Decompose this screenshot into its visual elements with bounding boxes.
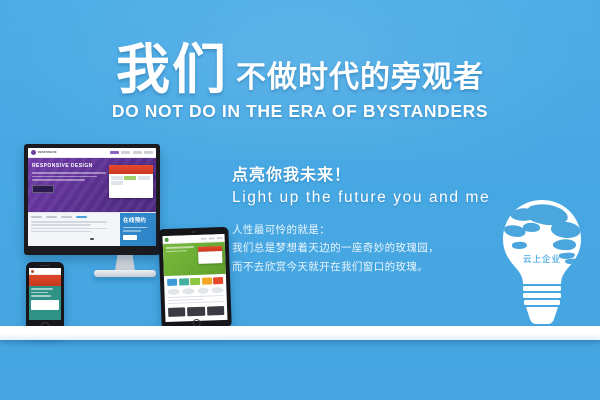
thumb-header xyxy=(109,165,153,174)
feature-icon xyxy=(167,289,179,295)
subhead-en: Light up the future you and me xyxy=(232,189,512,208)
body-paragraph: 人性最可怜的就是： 我们总是梦想着天边的一座奇妙的玫瑰园， 而不去欣赏今天就开在… xyxy=(232,221,512,276)
tablet-logo-icon xyxy=(165,237,169,241)
hero-screenshot-thumb xyxy=(109,165,153,198)
monitor-hero-banner: RESPONSIVE DESIGN xyxy=(28,158,156,212)
body-line-2: 我们总是梦想着天边的一座奇妙的玫瑰园， xyxy=(232,239,512,257)
phone-card xyxy=(31,300,59,310)
body-line-3: 而不去欣赏今天就开在我们窗口的玫瑰。 xyxy=(232,258,512,276)
content-tab[interactable] xyxy=(61,216,72,218)
tablet-hero-card xyxy=(198,246,223,264)
monitor-screen: RESPONSIVE RESPONSIVE DESIGN xyxy=(28,148,156,246)
phone-logo-icon xyxy=(31,270,34,273)
hero-cta-button[interactable] xyxy=(32,185,54,193)
tablet-nav-item[interactable] xyxy=(217,237,223,239)
feature-icon xyxy=(212,287,224,293)
desktop-monitor-mockup: RESPONSIVE RESPONSIVE DESIGN xyxy=(24,144,160,255)
tablet-thumb xyxy=(168,307,186,317)
headline-secondary-cn: 不做时代的旁观者 xyxy=(236,63,484,97)
thumb-block xyxy=(124,176,136,180)
nav-item[interactable] xyxy=(110,151,119,154)
monitor-led xyxy=(90,238,94,240)
tablet-hero-banner xyxy=(163,242,226,276)
hero-text-line xyxy=(32,179,85,181)
phone-screen xyxy=(29,268,61,320)
content-text-line xyxy=(31,221,107,223)
tablet-thumb xyxy=(187,307,205,317)
tablet-card-header xyxy=(198,246,222,252)
hero-text-line xyxy=(32,172,106,174)
tablet-nav-item[interactable] xyxy=(201,237,207,239)
content-tab[interactable] xyxy=(31,216,42,218)
white-shelf xyxy=(0,326,600,340)
shelf-shadow xyxy=(0,340,600,344)
phone-speaker xyxy=(40,265,50,266)
banner-stage: 我们 不做时代的旁观者 DO NOT DO IN THE ERA OF BYST… xyxy=(0,0,600,400)
content-tabs xyxy=(31,216,117,218)
thumb-block xyxy=(111,181,123,185)
hero-text-line xyxy=(32,176,97,178)
thumb-body xyxy=(109,174,153,187)
monitor-base xyxy=(94,270,156,277)
phone-banner xyxy=(29,275,61,286)
tablet-hero-line xyxy=(166,250,187,252)
content-tab[interactable] xyxy=(76,216,87,218)
tablet-text-block xyxy=(165,295,227,305)
site-brand-label: RESPONSIVE xyxy=(38,151,57,154)
phone-text-line xyxy=(31,295,51,297)
nav-item[interactable] xyxy=(121,151,130,154)
phone-site-header xyxy=(29,268,61,275)
tablet-camera xyxy=(192,230,195,233)
tablet-thumb xyxy=(207,306,225,316)
tablet-nav xyxy=(201,237,223,240)
swatch xyxy=(213,277,223,284)
body-line-1: 人性最可怜的就是： xyxy=(232,221,512,239)
thumb-block xyxy=(138,176,150,180)
tablet-nav-item[interactable] xyxy=(209,237,215,239)
content-tab[interactable] xyxy=(46,216,57,218)
swatch xyxy=(179,278,189,285)
tablet-screen xyxy=(163,234,228,322)
bulb-watermark: 云上企业 xyxy=(494,253,590,265)
nav-item[interactable] xyxy=(144,151,153,154)
tablet-mockup xyxy=(158,227,231,329)
tablet-hero-line xyxy=(166,246,194,248)
copy-block: 点亮你我未来！ Light up the future you and me 人… xyxy=(232,166,512,276)
smartphone-mockup xyxy=(26,262,64,334)
thumb-block xyxy=(111,176,123,180)
phone-text-line xyxy=(31,288,53,290)
tablet-thumb-row xyxy=(165,304,227,319)
site-logo-icon xyxy=(31,150,36,155)
phone-text-line xyxy=(31,292,48,294)
feature-icon xyxy=(197,288,209,294)
monitor-site-header: RESPONSIVE xyxy=(28,148,156,158)
content-text-line xyxy=(31,224,91,226)
swatch xyxy=(190,278,200,285)
feature-icon xyxy=(182,288,194,294)
swatch xyxy=(201,277,211,284)
device-mockup-group: RESPONSIVE RESPONSIVE DESIGN xyxy=(0,0,250,340)
lightbulb-globe-icon: 云上企业 xyxy=(494,196,590,328)
subhead-cn: 点亮你我未来！ xyxy=(232,166,512,185)
monitor-chin xyxy=(28,227,156,245)
phone-body xyxy=(29,286,61,320)
nav-item[interactable] xyxy=(133,151,142,154)
booking-panel-title: 在线预约 xyxy=(123,216,153,224)
swatch xyxy=(167,279,177,286)
site-nav xyxy=(110,151,154,154)
